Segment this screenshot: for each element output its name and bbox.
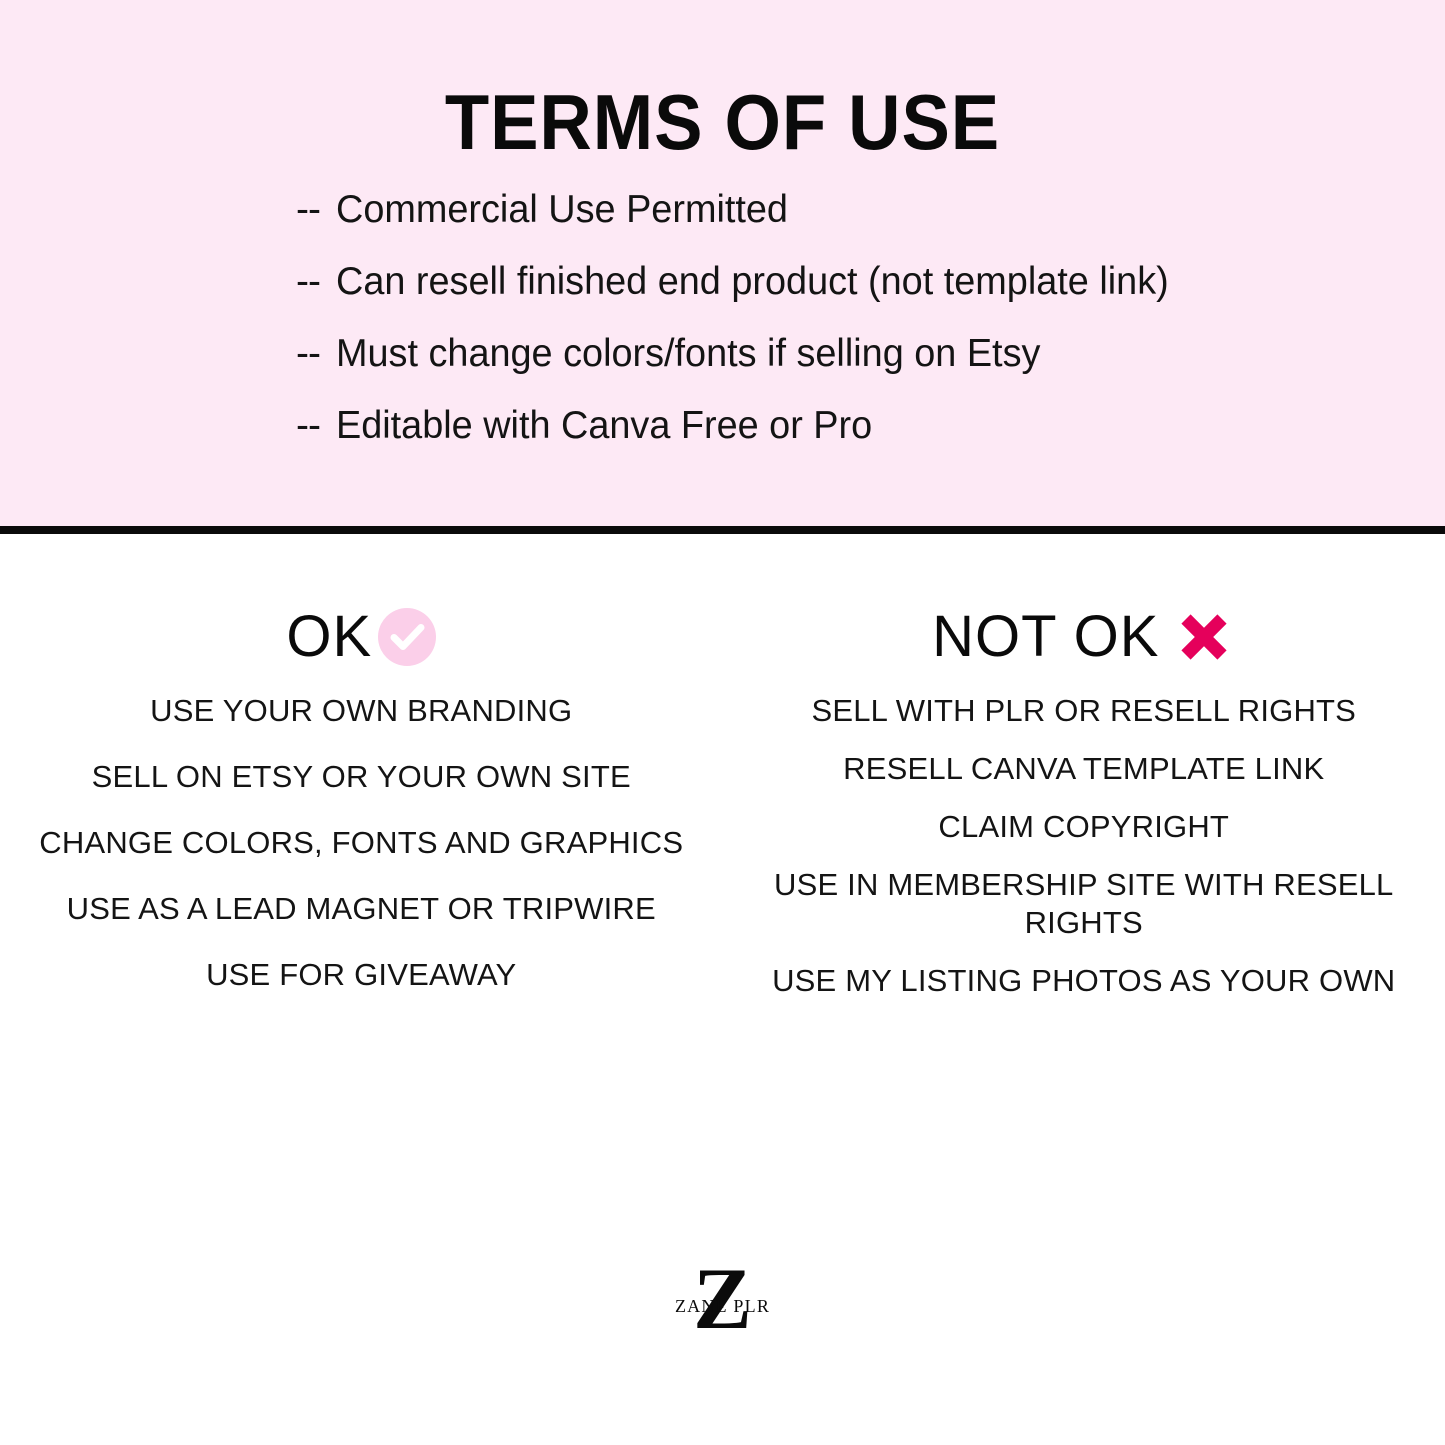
section-divider (0, 526, 1445, 534)
terms-list-item-label: Can resell finished end product (not tem… (336, 258, 1169, 306)
page-title: TERMS OF USE (51, 76, 1395, 168)
column-ok-heading: OK (286, 606, 372, 668)
terms-list-item: -- Commercial Use Permitted (296, 186, 1356, 258)
column-not-ok: NOT OK SELL WITH PLR OR RESELL RIGHTS RE… (723, 534, 1445, 1154)
list-item: CHANGE COLORS, FONTS AND GRAPHICS (0, 824, 723, 862)
terms-list-item: -- Can resell finished end product (not … (296, 258, 1356, 330)
list-item: USE IN MEMBERSHIP SITE WITH RESELL RIGHT… (723, 866, 1445, 942)
list-item: USE FOR GIVEAWAY (0, 956, 723, 994)
check-circle-icon (378, 608, 436, 666)
terms-list-item-label: Editable with Canva Free or Pro (336, 402, 872, 450)
terms-list-item: -- Must change colors/fonts if selling o… (296, 330, 1356, 402)
brand-logo: Z ZANE PLR (0, 1258, 1445, 1354)
bullet-dash-icon: -- (296, 258, 320, 306)
terms-list-item: -- Editable with Canva Free or Pro (296, 402, 1356, 474)
bullet-dash-icon: -- (296, 402, 320, 450)
permissions-columns: OK USE YOUR OWN BRANDING SELL ON ETSY OR… (0, 534, 1445, 1154)
list-item: SELL WITH PLR OR RESELL RIGHTS (723, 692, 1445, 730)
column-ok: OK USE YOUR OWN BRANDING SELL ON ETSY OR… (0, 534, 723, 1154)
list-item: USE AS A LEAD MAGNET OR TRIPWIRE (0, 890, 723, 928)
list-item: USE MY LISTING PHOTOS AS YOUR OWN (723, 962, 1445, 1000)
terms-list-item-label: Commercial Use Permitted (336, 186, 788, 234)
terms-of-use-page: TERMS OF USE -- Commercial Use Permitted… (0, 0, 1445, 1445)
terms-list-item-label: Must change colors/fonts if selling on E… (336, 330, 1040, 378)
list-item: CLAIM COPYRIGHT (723, 808, 1445, 846)
column-not-ok-list: SELL WITH PLR OR RESELL RIGHTS RESELL CA… (723, 692, 1445, 1000)
cross-icon (1173, 606, 1235, 668)
bullet-dash-icon: -- (296, 330, 320, 378)
column-not-ok-header: NOT OK (723, 600, 1445, 674)
terms-panel: TERMS OF USE -- Commercial Use Permitted… (0, 0, 1445, 526)
logo-wordmark: ZANE PLR (643, 1296, 803, 1316)
bullet-dash-icon: -- (296, 186, 320, 234)
column-ok-list: USE YOUR OWN BRANDING SELL ON ETSY OR YO… (0, 692, 723, 994)
brand-logo-inner: Z ZANE PLR (643, 1258, 803, 1354)
list-item: USE YOUR OWN BRANDING (0, 692, 723, 730)
terms-list: -- Commercial Use Permitted -- Can resel… (296, 186, 1356, 474)
column-not-ok-heading: NOT OK (932, 606, 1159, 668)
list-item: RESELL CANVA TEMPLATE LINK (723, 750, 1445, 788)
list-item: SELL ON ETSY OR YOUR OWN SITE (0, 758, 723, 796)
column-ok-header: OK (0, 600, 723, 674)
